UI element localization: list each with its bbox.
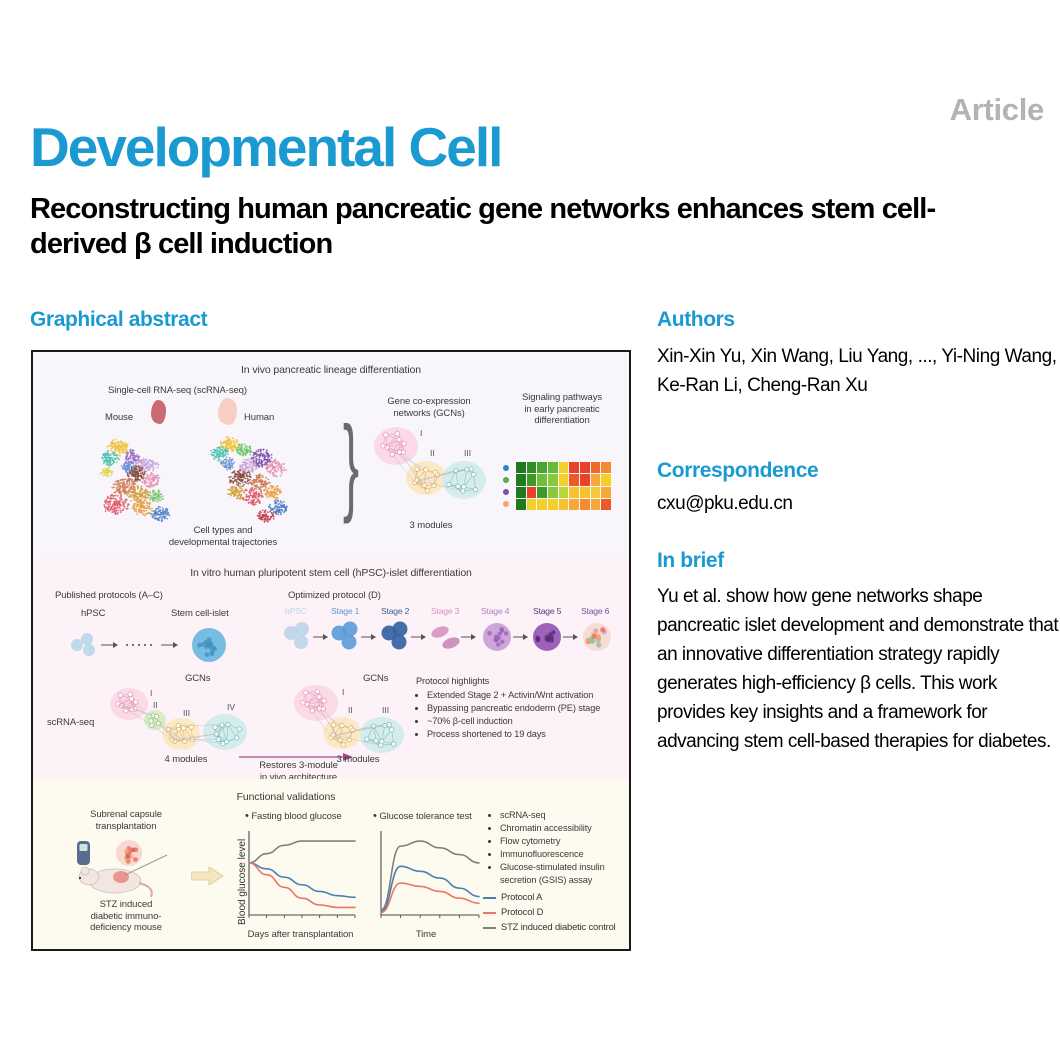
- assay-item: Chromatin accessibility: [500, 822, 629, 835]
- legend-label: Protocol D: [501, 906, 543, 917]
- heatmap-cell: [548, 499, 558, 510]
- heatmap-cell: [591, 487, 601, 498]
- protocol-highlight-item: Bypassing pancreatic endoderm (PE) stage: [427, 702, 631, 715]
- mouse-label: Mouse: [105, 412, 133, 424]
- heatmap-cell: [580, 474, 590, 485]
- heatmap-cell: [527, 499, 537, 510]
- correspondence-email[interactable]: cxu@pku.edu.cn: [657, 493, 793, 515]
- authors-list: Xin-Xin Yu, Xin Wang, Liu Yang, ..., Yi-…: [657, 343, 1057, 401]
- right-modules-count: 3 modules: [318, 754, 398, 766]
- gcn-label: Gene co-expression networks (GCNs): [363, 396, 495, 419]
- heatmap-cell: [559, 499, 569, 510]
- svg-text:II: II: [348, 705, 353, 715]
- gcn-network-in-vivo: IIIIII: [368, 420, 493, 515]
- svg-text:I: I: [420, 428, 422, 438]
- left-scrnaseq-label: scRNA-seq: [47, 717, 94, 729]
- human-label: Human: [244, 412, 274, 424]
- heatmap-cell: [548, 474, 558, 485]
- legend-label: STZ induced diabetic control: [501, 921, 616, 932]
- scrnaseq-label: Single-cell RNA-seq (scRNA-seq): [108, 385, 247, 397]
- authors-heading: Authors: [657, 308, 1057, 332]
- gcn-network-4-modules: IIIIIIIV: [105, 682, 265, 762]
- heatmap-cell: [548, 487, 558, 498]
- heatmap-cell: [516, 474, 526, 485]
- graphical-abstract-figure: In vivo pancreatic lineage differentiati…: [31, 350, 631, 951]
- in-brief-heading: In brief: [657, 549, 1057, 573]
- protocol-highlights-title: Protocol highlights: [416, 675, 631, 688]
- heatmap-cell: [591, 474, 601, 485]
- flow-arrow: [191, 867, 225, 885]
- chart1-title: • Fasting blood glucose: [245, 810, 342, 823]
- brace-decoration: }: [343, 410, 359, 518]
- heatmap-cell: [569, 474, 579, 485]
- panel-in-vitro-title: In vitro human pluripotent stem cell (hP…: [33, 567, 629, 579]
- heatmap-cell: [516, 487, 526, 498]
- graphical-abstract-heading: Graphical abstract: [30, 308, 430, 332]
- heatmap-cell: [537, 462, 547, 473]
- panel-functional-title: Functional validations: [31, 791, 584, 803]
- svg-text:II: II: [430, 448, 435, 458]
- protocol-highlights: Protocol highlights Extended Stage 2 + A…: [416, 675, 631, 741]
- svg-text:IV: IV: [227, 702, 235, 712]
- published-protocol-diagram: [69, 623, 259, 667]
- trajectory-label: Cell types and developmental trajectorie…: [133, 525, 313, 548]
- panel-in-vivo: In vivo pancreatic lineage differentiati…: [33, 352, 629, 557]
- svg-text:II: II: [153, 700, 158, 710]
- human-embryo-icon: [218, 398, 237, 425]
- svg-text:I: I: [342, 687, 344, 697]
- heatmap-cell: [601, 462, 611, 473]
- stz-mouse-label: STZ induced diabetic immuno- deficiency …: [61, 899, 191, 934]
- svg-text:III: III: [464, 448, 471, 458]
- stage-label-3: Stage 3: [431, 606, 459, 616]
- pathways-label: Signaling pathways in early pancreatic d…: [503, 392, 621, 427]
- pathway-heatmap-dots: [501, 462, 513, 510]
- panel-functional-validations: Functional validations Subrenal capsule …: [33, 779, 629, 949]
- heatmap-cell: [559, 487, 569, 498]
- heatmap-cell: [591, 462, 601, 473]
- heatmap-cell: [527, 474, 537, 485]
- assay-item: Glucose-stimulated insulin secretion (GS…: [500, 861, 629, 887]
- panel-in-vivo-title: In vivo pancreatic lineage differentiati…: [33, 364, 629, 376]
- legend-swatch: [483, 897, 496, 899]
- heatmap-cell: [537, 474, 547, 485]
- correspondence-heading: Correspondence: [657, 459, 1057, 483]
- stage-label-row: hPSCStage 1Stage 2Stage 3Stage 4Stage 5S…: [285, 606, 625, 620]
- stage-label-6: Stage 6: [581, 606, 609, 616]
- stage-label-0: hPSC: [285, 606, 307, 616]
- stage-cell-diagram: [283, 619, 627, 667]
- assay-item: scRNA-seq: [500, 809, 629, 822]
- heatmap-cell: [580, 462, 590, 473]
- published-end-label: Stem cell-islet: [171, 608, 229, 620]
- mouse-transplant-illustration: [63, 839, 193, 897]
- heatmap-cell: [569, 487, 579, 498]
- heatmap-cell: [516, 499, 526, 510]
- page-title: Reconstructing human pancreatic gene net…: [30, 192, 1020, 263]
- legend-swatch: [483, 927, 496, 929]
- protocol-highlight-item: Extended Stage 2 + Activin/Wnt activatio…: [427, 689, 631, 702]
- heatmap-cell: [601, 474, 611, 485]
- protocol-highlight-item: Process shortened to 19 days: [427, 728, 631, 741]
- modules-count-label: 3 modules: [381, 520, 481, 532]
- heatmap-cell: [601, 499, 611, 510]
- transplant-label: Subrenal capsule transplantation: [61, 809, 191, 832]
- heatmap-cell: [527, 462, 537, 473]
- journal-title: Developmental Cell: [30, 120, 501, 175]
- heatmap-cell: [559, 462, 569, 473]
- in-brief-text: Yu et al. show how gene networks shape p…: [657, 582, 1059, 756]
- published-protocols-label: Published protocols (A–C): [55, 590, 163, 602]
- optimized-protocol-label: Optimized protocol (D): [288, 590, 381, 602]
- heatmap-cell: [569, 499, 579, 510]
- heatmap-cell: [537, 499, 547, 510]
- heatmap-cell: [537, 487, 547, 498]
- svg-text:I: I: [150, 688, 152, 698]
- assay-item: Immunofluorescence: [500, 848, 629, 861]
- chart2-title: • Glucose tolerance test: [373, 810, 472, 823]
- legend-swatch: [483, 912, 496, 914]
- assay-list: scRNA-seqChromatin accessibilityFlow cyt…: [489, 809, 629, 887]
- protocol-highlight-item: ~70% β-cell induction: [427, 715, 631, 728]
- heatmap-cell: [516, 462, 526, 473]
- stage-label-2: Stage 2: [381, 606, 409, 616]
- heatmap-cell: [559, 474, 569, 485]
- chart1-xlabel: Days after transplantation: [228, 929, 373, 941]
- heatmap-cell: [548, 462, 558, 473]
- chart-legend: Protocol AProtocol DSTZ induced diabetic…: [483, 891, 631, 937]
- heatmap-row-dot: [503, 465, 509, 471]
- assay-item: Flow cytometry: [500, 835, 629, 848]
- heatmap-cell: [580, 499, 590, 510]
- svg-text:III: III: [183, 708, 190, 718]
- panel-in-vitro: In vitro human pluripotent stem cell (hP…: [33, 557, 629, 779]
- heatmap-cell: [569, 462, 579, 473]
- heatmap-cell: [527, 487, 537, 498]
- heatmap-row-dot: [503, 477, 509, 483]
- legend-label: Protocol A: [501, 891, 542, 902]
- heatmap-cell: [591, 499, 601, 510]
- left-modules-count: 4 modules: [141, 754, 231, 766]
- svg-text:III: III: [382, 705, 389, 715]
- published-start-label: hPSC: [81, 608, 105, 620]
- heatmap-cell: [601, 487, 611, 498]
- fasting-blood-glucose-chart: [241, 825, 359, 927]
- mouse-embryo-icon: [151, 400, 166, 424]
- stage-label-4: Stage 4: [481, 606, 509, 616]
- gcn-network-3-modules: IIIIII: [288, 681, 413, 761]
- article-type-tag: Article: [950, 92, 1044, 128]
- stage-label-5: Stage 5: [533, 606, 561, 616]
- stage-label-1: Stage 1: [331, 606, 359, 616]
- heatmap-row-dot: [503, 489, 509, 495]
- glucose-tolerance-test-chart: [373, 825, 483, 927]
- chart2-xlabel: Time: [381, 929, 471, 941]
- heatmap-cell: [580, 487, 590, 498]
- heatmap-row-dot: [503, 501, 509, 507]
- pathway-heatmap: [516, 462, 611, 510]
